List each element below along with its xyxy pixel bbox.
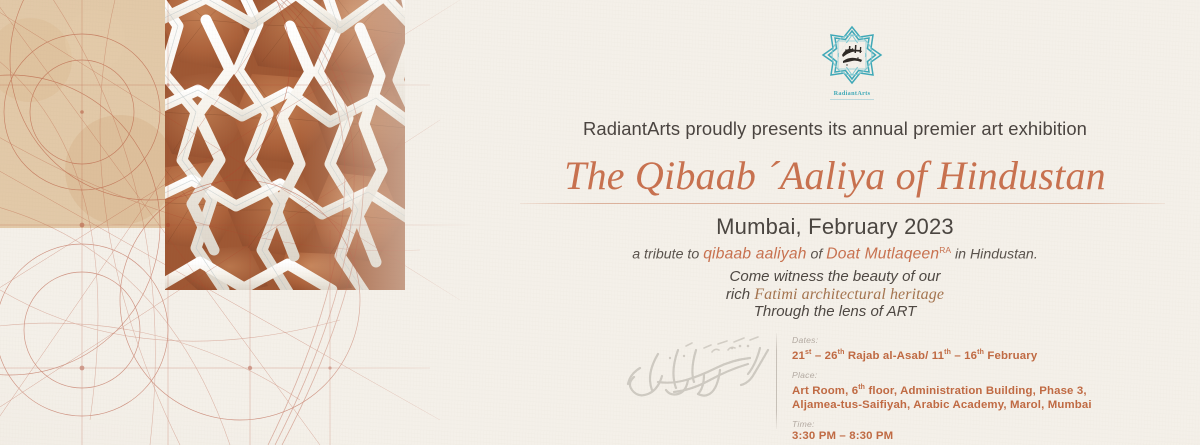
event-details: Dates: 21st – 26th Rajab al-Asab/ 11th –… (792, 335, 1122, 444)
detail-time: Time: 3:30 PM – 8:30 PM (792, 419, 1122, 444)
detail-place: Place: Art Room, 6th floor, Administrati… (792, 370, 1122, 412)
city-date: Mumbai, February 2023 (470, 214, 1200, 240)
tribute-highlight-doat: Doat Mutlaqeen (826, 246, 939, 263)
tribute-superscript: RA (939, 245, 951, 255)
detail-label-time: Time: (792, 419, 1122, 429)
tagline-line-2-prefix: rich (726, 286, 754, 303)
detail-label-place: Place: (792, 370, 1122, 380)
detail-value-time: 3:30 PM – 8:30 PM (792, 430, 1122, 444)
tagline-line-1: Come witness the beauty of our (470, 268, 1200, 286)
detail-dates: Dates: 21st – 26th Rajab al-Asab/ 11th –… (792, 335, 1122, 363)
presents-line: RadiantArts proudly presents its annual … (470, 118, 1200, 140)
tribute-suffix: in Hindustan. (951, 247, 1038, 263)
detail-label-dates: Dates: (792, 335, 1122, 345)
detail-value-dates: 21st – 26th Rajab al-Asab/ 11th – 16th F… (792, 346, 1122, 363)
tribute-line: a tribute to qibaab aaliyah of Doat Mutl… (470, 245, 1200, 264)
tribute-mid: of (807, 247, 827, 263)
page-title: The Qibaab ´Aaliya of Hindustan (470, 152, 1200, 199)
tagline-line-3: Through the lens of ART (470, 303, 1200, 321)
tagline-line-2: rich Fatimi architectural heritage (470, 286, 1200, 304)
title-divider (520, 203, 1165, 204)
detail-value-place: Art Room, 6th floor, Administration Buil… (792, 381, 1122, 412)
islamic-geometric-artwork (0, 0, 480, 445)
tribute-prefix: a tribute to (632, 247, 703, 263)
tagline-highlight-fatimi: Fatimi architectural heritage (754, 286, 944, 303)
exhibition-banner: RadiantArts RadiantArts proudly presents… (0, 0, 1200, 445)
tagline-block: Come witness the beauty of our rich Fati… (470, 268, 1200, 321)
tribute-highlight-qibaab: qibaab aaliyah (703, 246, 806, 263)
